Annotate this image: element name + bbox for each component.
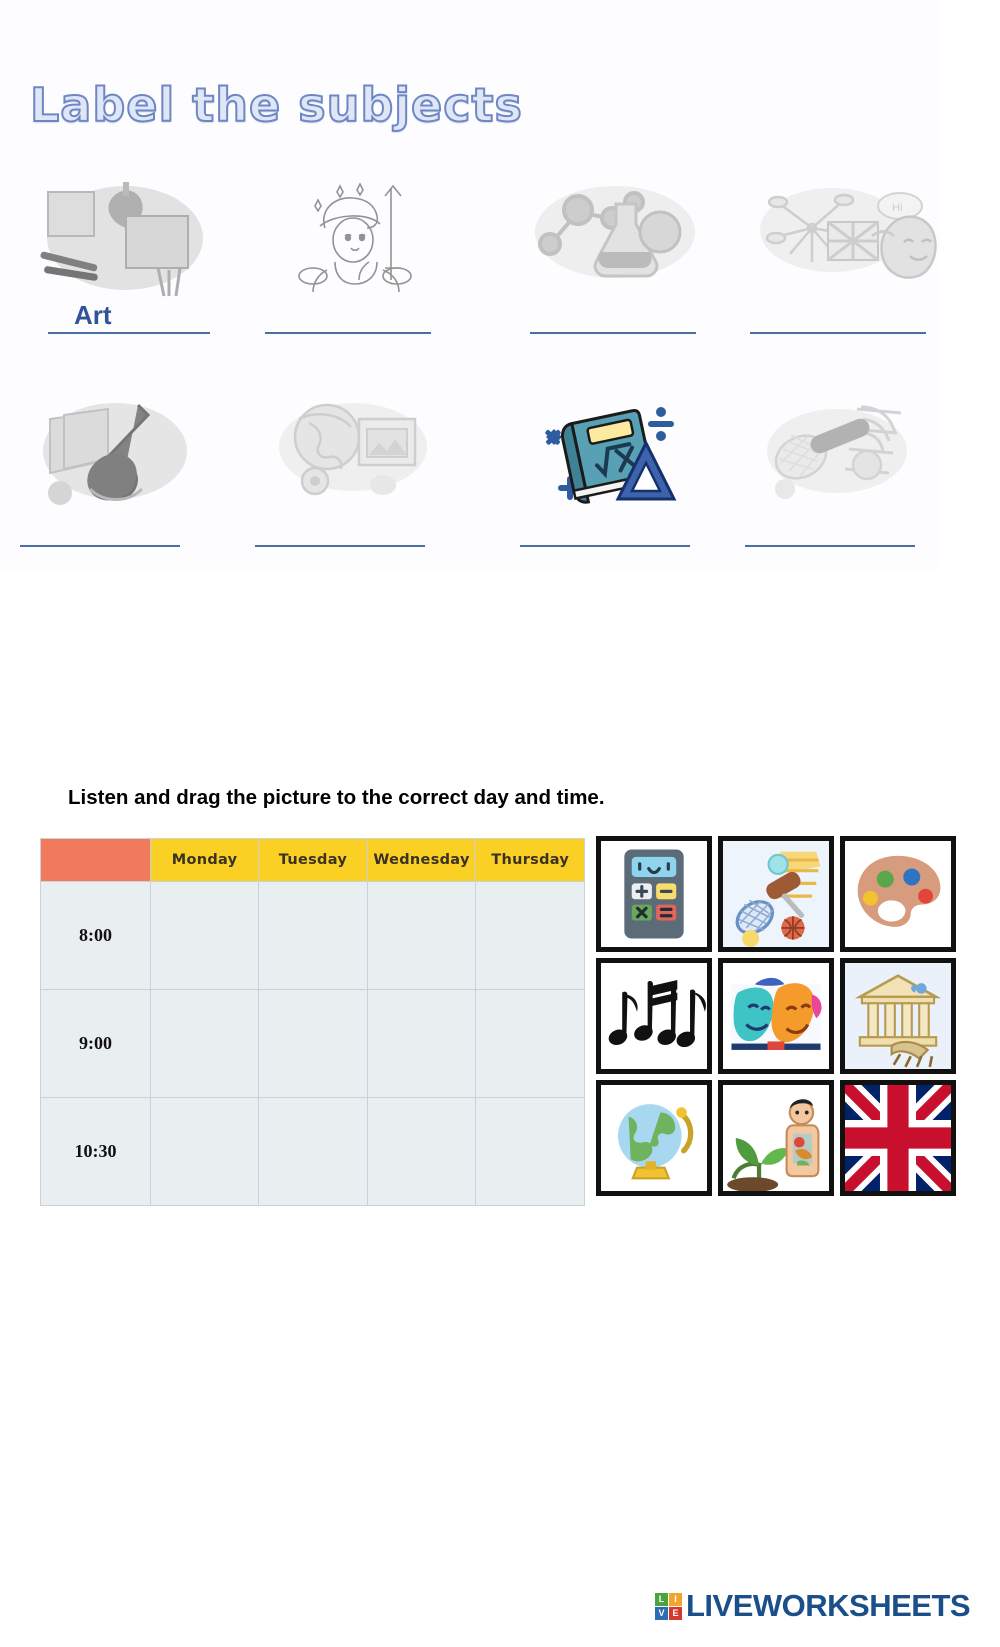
logo-tile-l: L: [655, 1593, 668, 1606]
science-molecule-flask-icon: [520, 170, 720, 300]
plant-and-body-icon: [723, 1085, 829, 1191]
answer-line-art[interactable]: [48, 332, 210, 334]
answer-line-english[interactable]: [750, 332, 926, 334]
subject-item-geography: [255, 385, 455, 565]
globe-icon: [601, 1085, 707, 1191]
logo-tile-e: E: [669, 1607, 682, 1620]
logo-text: LIVEWORKSHEETS: [686, 1588, 970, 1624]
sports-card[interactable]: [718, 836, 834, 952]
column-header-wednesday: Wednesday: [367, 839, 476, 882]
instruction-text: Listen and drag the picture to the corre…: [68, 786, 605, 810]
table-row: 9:00: [41, 990, 585, 1098]
answer-line-history[interactable]: [265, 332, 431, 334]
geography-globe-map-icon: [255, 385, 455, 515]
paint-palette-icon: [845, 841, 951, 947]
drop-cell-tuesday-1030[interactable]: [259, 1098, 367, 1206]
theatre-masks-card[interactable]: [718, 958, 834, 1074]
column-header-tuesday: Tuesday: [259, 839, 367, 882]
maths-book-ruler-icon: [520, 385, 720, 515]
liveworksheets-logo: L I V E LIVEWORKSHEETS: [655, 1588, 970, 1624]
drop-cell-tuesday-900[interactable]: [259, 990, 367, 1098]
time-label-900: 9:00: [41, 990, 151, 1098]
answer-line-geography[interactable]: [255, 545, 425, 547]
table-row: 10:30: [41, 1098, 585, 1206]
subject-item-english: Hi: [740, 170, 960, 360]
greek-temple-card[interactable]: [840, 958, 956, 1074]
history-figure-icon: [265, 170, 465, 300]
timetable: Monday Tuesday Wednesday Thursday 8:00 9…: [40, 838, 585, 1206]
globe-card[interactable]: [596, 1080, 712, 1196]
logo-tile-v: V: [655, 1607, 668, 1620]
music-violin-notes-icon: [20, 385, 220, 515]
subject-item-music: [20, 385, 220, 565]
time-label-1030: 10:30: [41, 1098, 151, 1206]
drop-cell-tuesday-800[interactable]: [259, 882, 367, 990]
drop-cell-wednesday-900[interactable]: [367, 990, 476, 1098]
time-label-800: 8:00: [41, 882, 151, 990]
music-notes-icon: [601, 963, 707, 1069]
answer-line-maths[interactable]: [520, 545, 690, 547]
subject-item-art: Art: [30, 170, 230, 360]
music-notes-card[interactable]: [596, 958, 712, 1074]
answer-line-music[interactable]: [20, 545, 180, 547]
science-plant-body-card[interactable]: [718, 1080, 834, 1196]
table-corner-cell: [41, 839, 151, 882]
drop-cell-thursday-900[interactable]: [476, 990, 585, 1098]
sports-equipment-icon: [723, 841, 829, 947]
answer-word-art[interactable]: Art: [74, 300, 112, 331]
picture-card-grid: [596, 836, 956, 1196]
uk-flag-icon: [845, 1085, 951, 1191]
svg-text:Hi: Hi: [892, 202, 902, 214]
calculator-icon: [601, 841, 707, 947]
page-title: Label the subjects: [30, 78, 523, 132]
pe-sports-equipment-icon: [745, 385, 945, 515]
english-uk-flag-girl-icon: Hi: [740, 170, 960, 300]
column-header-thursday: Thursday: [476, 839, 585, 882]
subject-item-maths: [520, 385, 720, 565]
paint-palette-card[interactable]: [840, 836, 956, 952]
greek-temple-icon: [845, 963, 951, 1069]
logo-tiles: L I V E: [655, 1593, 682, 1620]
worksheet-page: Label the subjects Art: [0, 0, 940, 570]
drop-cell-monday-800[interactable]: [150, 882, 258, 990]
drop-cell-wednesday-800[interactable]: [367, 882, 476, 990]
theatre-masks-icon: [723, 963, 829, 1069]
column-header-monday: Monday: [150, 839, 258, 882]
uk-flag-card[interactable]: [840, 1080, 956, 1196]
drop-cell-thursday-1030[interactable]: [476, 1098, 585, 1206]
answer-line-pe[interactable]: [745, 545, 915, 547]
drop-cell-monday-900[interactable]: [150, 990, 258, 1098]
drop-cell-wednesday-1030[interactable]: [367, 1098, 476, 1206]
subject-item-history: [265, 170, 465, 360]
table-header-row: Monday Tuesday Wednesday Thursday: [41, 839, 585, 882]
logo-tile-i: I: [669, 1593, 682, 1606]
answer-line-science[interactable]: [530, 332, 696, 334]
calculator-card[interactable]: [596, 836, 712, 952]
subject-item-pe: [745, 385, 945, 565]
drop-cell-monday-1030[interactable]: [150, 1098, 258, 1206]
subject-item-science: [520, 170, 720, 360]
table-row: 8:00: [41, 882, 585, 990]
drop-cell-thursday-800[interactable]: [476, 882, 585, 990]
art-supplies-easel-icon: [30, 170, 230, 300]
